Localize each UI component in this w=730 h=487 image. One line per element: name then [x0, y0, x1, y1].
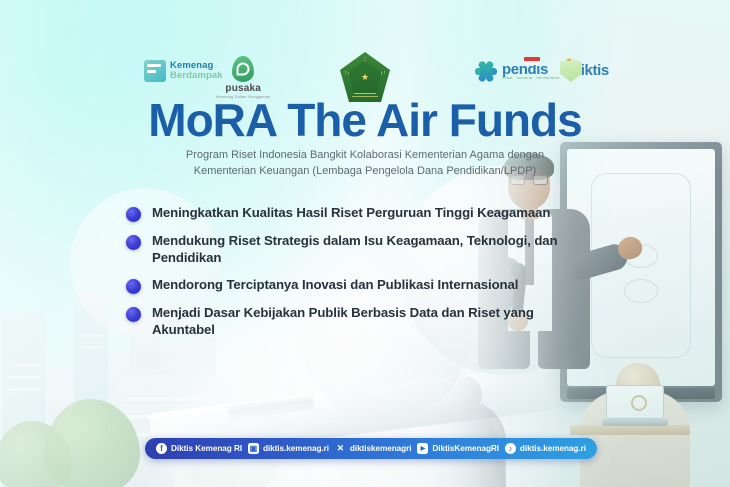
- social-item-facebook[interactable]: f Diktis Kemenag RI: [156, 443, 242, 454]
- list-item-label: Mendukung Riset Strategis dalam Isu Keag…: [152, 233, 596, 266]
- instagram-icon: ▣: [248, 443, 259, 454]
- tiktok-icon: ♪: [505, 443, 516, 454]
- list-item: Mendukung Riset Strategis dalam Isu Keag…: [126, 233, 596, 266]
- subtitle-line-2: Kementerian Keuangan (Lembaga Pengelola …: [120, 164, 610, 180]
- social-item-instagram[interactable]: ▣ diktis.kemenag.ri: [248, 443, 329, 454]
- youtube-icon: ▶: [417, 443, 428, 454]
- objectives-list: Meningkatkan Kualitas Hasil Riset Pergur…: [126, 205, 596, 350]
- kemenag-berdampak-icon: [144, 60, 166, 82]
- social-media-bar: f Diktis Kemenag RI ▣ diktis.kemenag.ri …: [145, 438, 597, 459]
- pusaka-droplet-icon: [232, 56, 254, 82]
- bullet-dot-icon: [126, 279, 141, 294]
- poster-canvas: Kemenag Berdampak pusaka Kemenag Dalam G…: [0, 0, 730, 487]
- pendis-logo: pendis hebat . moderat . bermartabat: [474, 59, 560, 83]
- youtube-handle: DiktisKemenagRI: [432, 444, 499, 453]
- pendis-flag-icon: [524, 57, 540, 65]
- pendis-star-icon: [474, 59, 498, 83]
- list-item-label: Menjadi Dasar Kebijakan Publik Berbasis …: [152, 305, 596, 338]
- social-item-x[interactable]: ✕ diktiskemenagri: [335, 443, 412, 454]
- tiktok-handle: diktis.kemenag.ri: [520, 444, 586, 453]
- list-item: Meningkatkan Kualitas Hasil Riset Pergur…: [126, 205, 596, 222]
- list-item: Menjadi Dasar Kebijakan Publik Berbasis …: [126, 305, 596, 338]
- kemenag-berdampak-line2: Berdampak: [170, 71, 223, 81]
- x-twitter-icon: ✕: [335, 443, 346, 454]
- social-item-youtube[interactable]: ▶ DiktisKemenagRI: [417, 443, 499, 454]
- list-item-label: Mendorong Terciptanya Inovasi dan Publik…: [152, 277, 518, 294]
- list-item-label: Meningkatkan Kualitas Hasil Riset Pergur…: [152, 205, 550, 222]
- instagram-handle: diktis.kemenag.ri: [263, 444, 329, 453]
- list-item: Mendorong Terciptanya Inovasi dan Publik…: [126, 277, 596, 294]
- subtitle-line-1: Program Riset Indonesia Bangkit Kolabora…: [120, 148, 610, 164]
- bullet-dot-icon: [126, 207, 141, 222]
- facebook-handle: Diktis Kemenag RI: [171, 444, 242, 453]
- page-title: MoRA The Air Funds: [0, 93, 730, 147]
- social-item-tiktok[interactable]: ♪ diktis.kemenag.ri: [505, 443, 586, 454]
- x-handle: diktiskemenagri: [350, 444, 412, 453]
- pendis-tagline: hebat . moderat . bermartabat: [502, 77, 560, 81]
- diktis-logo: diktis: [560, 58, 609, 82]
- bullet-dot-icon: [126, 307, 141, 322]
- bullet-dot-icon: [126, 235, 141, 250]
- page-subtitle: Program Riset Indonesia Bangkit Kolabora…: [120, 148, 610, 179]
- facebook-icon: f: [156, 443, 167, 454]
- kemenag-berdampak-logo: Kemenag Berdampak: [144, 60, 223, 82]
- logo-bar: Kemenag Berdampak pusaka Kemenag Dalam G…: [0, 26, 730, 74]
